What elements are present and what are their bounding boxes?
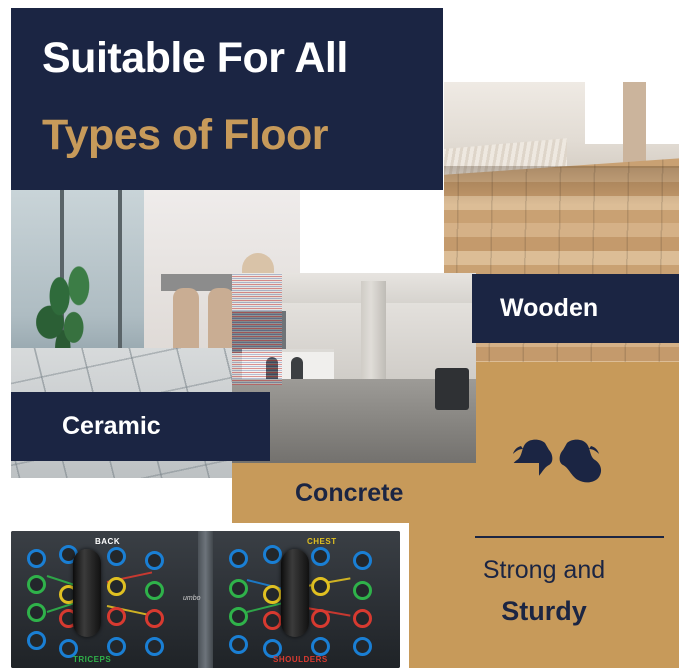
ceramic-window-mullion (118, 190, 122, 369)
feature-line-1: Strong and (409, 556, 679, 585)
feature-divider (475, 536, 664, 538)
board-brand-mark: umbo (183, 595, 201, 602)
label-wooden: Wooden (500, 294, 598, 323)
concrete-suitcase (435, 368, 469, 410)
pushup-board-photo: BACK CHEST TRICEPS SHOULDERS umbo (11, 531, 400, 668)
board-hole (145, 551, 164, 570)
board-hole (263, 585, 282, 604)
board-hole (263, 545, 282, 564)
label-concrete: Concrete (295, 479, 403, 508)
ceramic-stool (173, 288, 199, 351)
headline-panel: Suitable For All Types of Floor (11, 8, 443, 190)
board-hole (311, 577, 330, 596)
board-handle-right (281, 549, 309, 637)
label-ceramic: Ceramic (62, 412, 161, 441)
board-hole (27, 631, 46, 650)
headline-line-2: Types of Floor (42, 114, 328, 157)
board-hole (145, 581, 164, 600)
board-hole (229, 607, 248, 626)
board-hole (145, 637, 164, 656)
board-hole (263, 611, 282, 630)
board-hole (311, 547, 330, 566)
board-hole (311, 637, 330, 656)
wooden-floor-shadow (444, 166, 679, 205)
concrete-photo-artifact (232, 273, 282, 385)
board-hole (229, 635, 248, 654)
board-hole (311, 609, 330, 628)
label-chip-ceramic: Ceramic (11, 392, 270, 461)
board-label-shoulders: SHOULDERS (273, 655, 328, 664)
label-chip-wooden: Wooden (472, 274, 679, 343)
label-chip-concrete: Concrete (232, 463, 539, 523)
board-hole (27, 603, 46, 622)
board-hole (107, 607, 126, 626)
board-hole (353, 551, 372, 570)
board-hole (353, 609, 372, 628)
board-hole (107, 637, 126, 656)
board-hole (27, 549, 46, 568)
ceramic-stool (208, 288, 234, 351)
board-label-back: BACK (95, 537, 120, 546)
board-handle-left (73, 549, 101, 637)
board-label-chest: CHEST (307, 537, 337, 546)
poster-canvas: Suitable For All Types of Floor Strong a… (0, 0, 679, 668)
board-hole (229, 579, 248, 598)
board-hole (353, 637, 372, 656)
board-hole (229, 549, 248, 568)
board-hole (353, 581, 372, 600)
board-label-triceps: TRICEPS (73, 655, 111, 664)
board-hole (107, 547, 126, 566)
board-hole (145, 609, 164, 628)
board-hole (27, 575, 46, 594)
feature-line-2: Sturdy (409, 596, 679, 627)
headline-line-1: Suitable For All (42, 37, 348, 80)
board-hole (107, 577, 126, 596)
